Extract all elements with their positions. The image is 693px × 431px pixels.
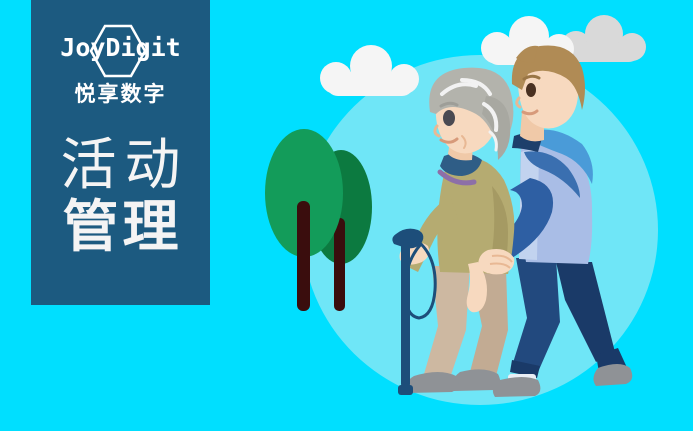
young-man-eye — [526, 83, 536, 97]
page-title: 活动 管理 — [31, 134, 210, 258]
brand-logo: JoyDigit — [51, 26, 191, 76]
page-title-line-2: 管理 — [31, 196, 210, 258]
page-title-line-1: 活动 — [31, 134, 210, 196]
title-panel: JoyDigit 悦享数字 活动 管理 — [31, 0, 210, 305]
woman-back-shoe — [452, 369, 500, 391]
tree-back-trunk — [334, 218, 345, 311]
woman-eye — [443, 110, 455, 126]
woman-other-hand — [478, 249, 514, 274]
logo-chinese-name: 悦享数字 — [75, 82, 167, 108]
poster-canvas: JoyDigit 悦享数字 活动 管理 — [0, 0, 693, 431]
cane-tip — [398, 385, 413, 395]
logo-wordmark: JoyDigit — [51, 34, 191, 62]
tree-front-trunk — [297, 201, 310, 311]
